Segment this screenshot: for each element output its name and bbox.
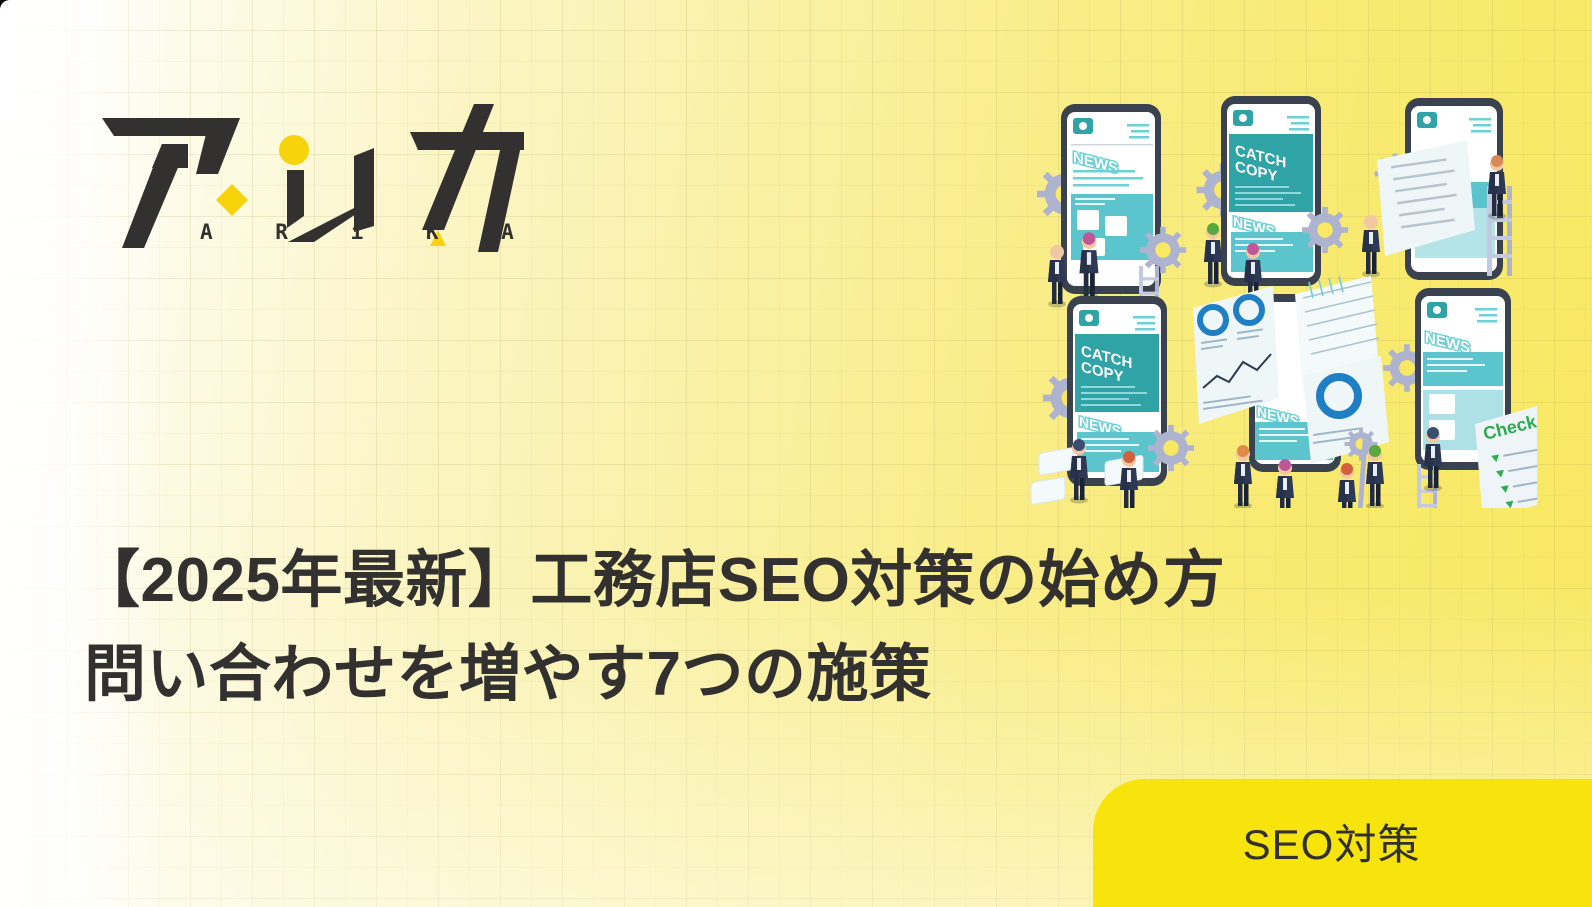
screenshot-stage: A R i K A (0, 0, 1592, 907)
article-title-line-1: 【2025年最新】工務店SEO対策の始め方 (78, 534, 1408, 628)
logo-diamond-accent (216, 184, 248, 216)
article-title-line-2: 問い合わせを増やす7つの施策 (78, 628, 1408, 722)
hero-illustration: NEWS (1025, 78, 1537, 508)
logo-wordmark: A R i K A (200, 220, 539, 244)
article-thumbnail-card: A R i K A (0, 0, 1592, 907)
isometric-seo-illustration: NEWS (1025, 78, 1537, 508)
article-title: 【2025年最新】工務店SEO対策の始め方 問い合わせを増やす7つの施策 (78, 534, 1408, 722)
category-badge[interactable]: SEO対策 (1093, 779, 1592, 907)
site-logo[interactable]: A R i K A (92, 88, 552, 258)
logo-dot-accent (279, 135, 309, 165)
category-badge-label: SEO対策 (1243, 811, 1443, 876)
